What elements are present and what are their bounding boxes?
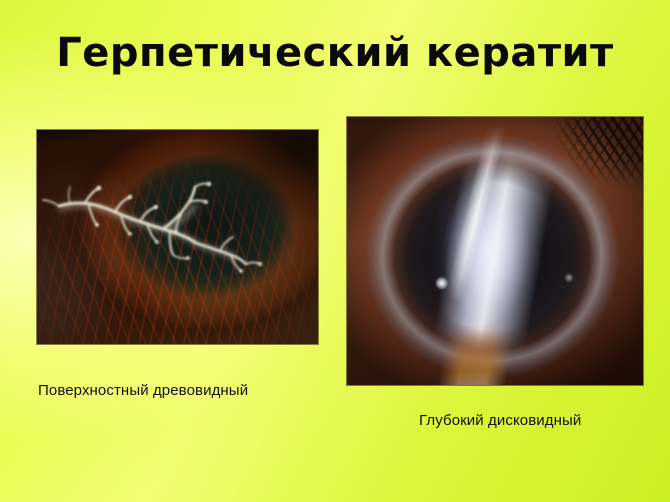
figure-superficial-dendritic-caption: Поверхностный древовидный (38, 382, 248, 399)
page-title: Герпетический кератит (0, 30, 670, 77)
figure-superficial-dendritic-image (37, 130, 318, 344)
slide-canvas: Герпетический кератит (0, 0, 670, 502)
dendritic-ulcer-layer (37, 130, 318, 344)
figure-deep-disciform-caption: Глубокий дисковидный (419, 412, 581, 429)
photo-vignette-layer (347, 117, 643, 385)
figure-deep-disciform-image (347, 117, 643, 385)
